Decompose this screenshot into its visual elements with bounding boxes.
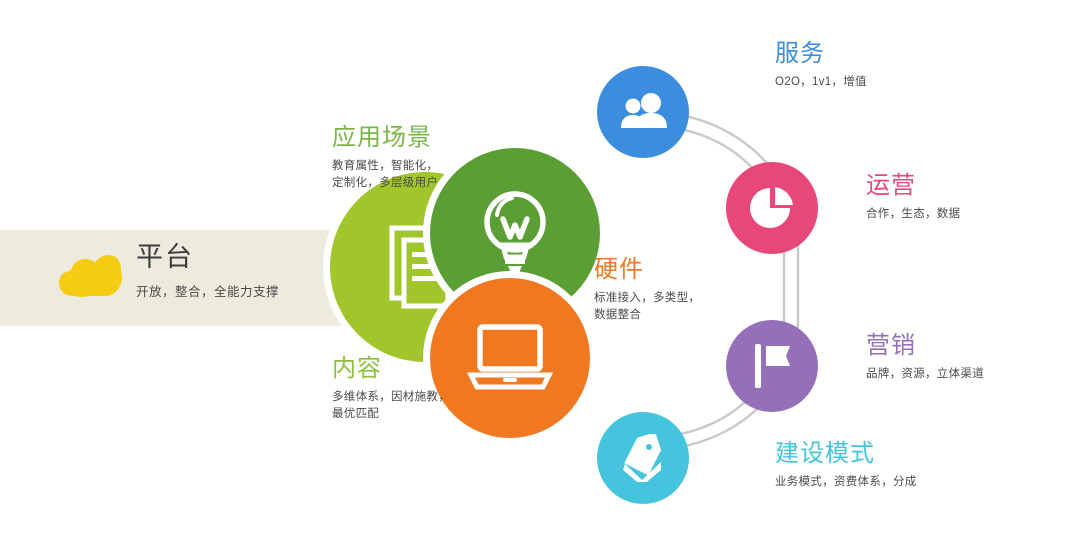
service-circle[interactable] xyxy=(597,66,689,158)
operation-label: 运营 合作，生态，数据 xyxy=(866,172,1066,223)
tag-icon xyxy=(619,434,667,482)
pie-chart-icon xyxy=(749,185,795,231)
marketing-label: 营销 品牌，资源，立体渠道 xyxy=(866,332,1076,383)
hardware-label: 硬件 标准接入，多类型， 数据整合 xyxy=(594,256,769,325)
marketing-circle[interactable] xyxy=(726,320,818,412)
users-icon xyxy=(618,92,668,132)
flag-icon xyxy=(750,342,794,390)
operation-subtitle: 合作，生态，数据 xyxy=(866,206,1066,224)
content-title: 内容 xyxy=(332,355,547,383)
infographic-canvas: 平台 开放，整合，全能力支撑 xyxy=(0,0,1080,540)
hardware-subtitle: 标准接入，多类型， 数据整合 xyxy=(594,290,769,326)
buildmode-circle[interactable] xyxy=(597,412,689,504)
cloud-icon xyxy=(58,252,122,298)
platform-title: 平台 xyxy=(136,243,356,273)
scenario-title: 应用场景 xyxy=(332,124,547,152)
content-subtitle: 多维体系，因材施教， 最优匹配 xyxy=(332,389,547,425)
lightbulb-icon xyxy=(477,187,553,279)
operation-title: 运营 xyxy=(866,172,1066,200)
marketing-subtitle: 品牌，资源，立体渠道 xyxy=(866,366,1076,384)
hardware-title: 硬件 xyxy=(594,256,769,284)
content-label: 内容 多维体系，因材施教， 最优匹配 xyxy=(332,355,547,424)
marketing-title: 营销 xyxy=(866,332,1076,360)
platform-subtitle: 开放，整合，全能力支撑 xyxy=(136,281,356,300)
scenario-subtitle: 教育属性，智能化， 定制化，多层级用户 xyxy=(332,158,547,194)
operation-circle[interactable] xyxy=(726,162,818,254)
scenario-label: 应用场景 教育属性，智能化， 定制化，多层级用户 xyxy=(332,124,547,193)
platform-text-block: 平台 开放，整合，全能力支撑 xyxy=(136,243,356,300)
